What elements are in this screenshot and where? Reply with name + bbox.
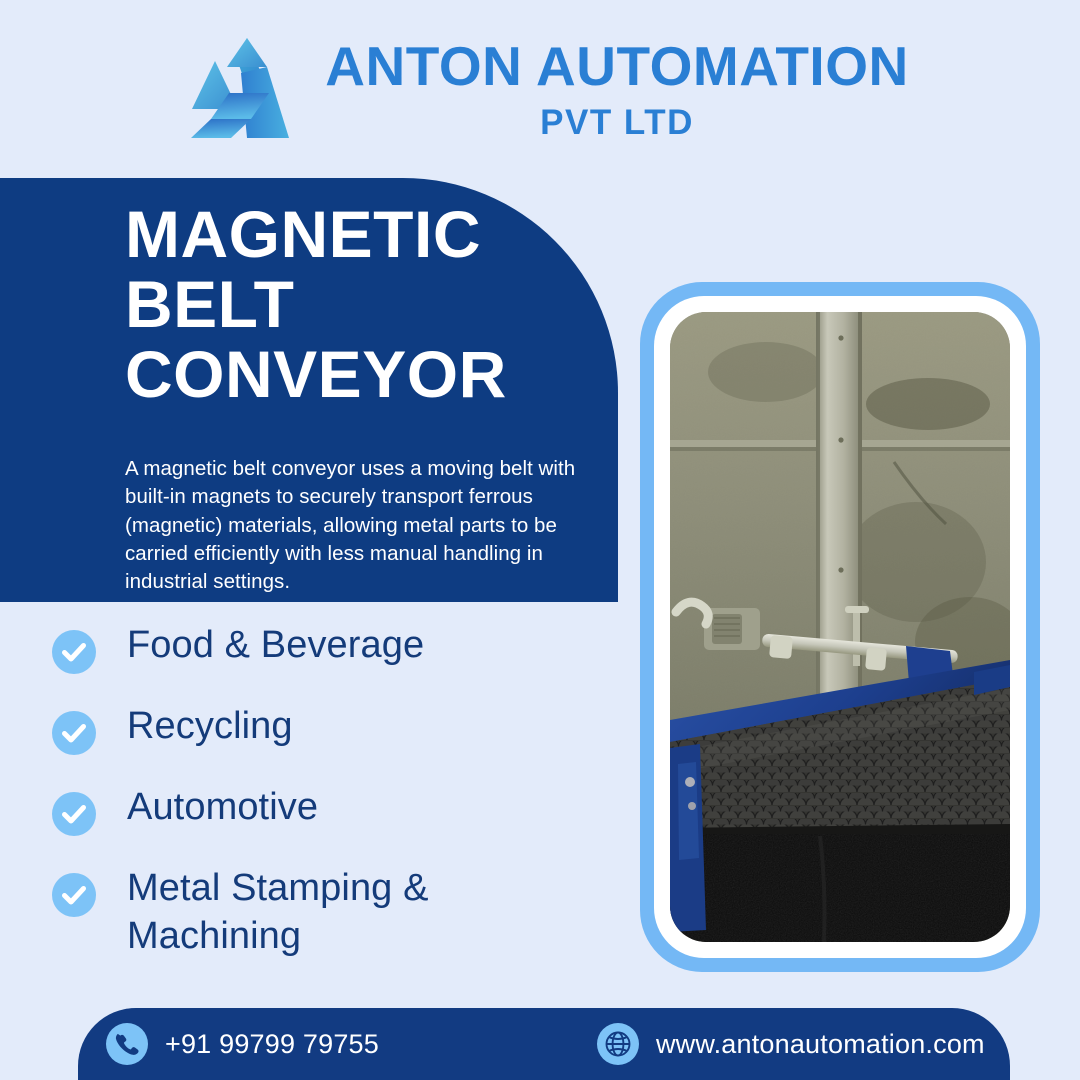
company-name: ANTON AUTOMATION: [325, 39, 908, 94]
check-circle-icon: [52, 873, 96, 917]
list-item: Food & Beverage: [52, 622, 612, 674]
list-item: Recycling: [52, 703, 612, 755]
feature-list: Food & Beverage Recycling Automotive Met…: [52, 622, 612, 990]
photo-inner-frame: [654, 296, 1026, 958]
list-item: Automotive: [52, 784, 612, 836]
check-circle-icon: [52, 630, 96, 674]
list-item-label: Metal Stamping & Machining: [127, 865, 612, 961]
phone-icon: [106, 1023, 148, 1065]
contact-bar: +91 99799 79755 www.antonautomation.com: [78, 1008, 1010, 1080]
website-url: www.antonautomation.com: [656, 1029, 985, 1060]
title-line-3: CONVEYOR: [125, 340, 595, 410]
company-suffix: PVT LTD: [540, 105, 694, 140]
list-item-label: Automotive: [127, 784, 318, 832]
logo-lockup: ANTON AUTOMATION PVT LTD: [181, 33, 908, 145]
title-line-1: MAGNETIC: [125, 200, 595, 270]
list-item-label: Food & Beverage: [127, 622, 424, 670]
hero-description: A magnetic belt conveyor uses a moving b…: [125, 455, 603, 596]
phone-number: +91 99799 79755: [165, 1029, 379, 1060]
list-item-label: Recycling: [127, 703, 293, 751]
title-line-2: BELT: [125, 270, 595, 340]
photo-card: [640, 282, 1040, 972]
check-circle-icon: [52, 792, 96, 836]
globe-icon: [597, 1023, 639, 1065]
brand-header: ANTON AUTOMATION PVT LTD: [0, 0, 1080, 178]
check-circle-icon: [52, 711, 96, 755]
contact-website[interactable]: www.antonautomation.com: [597, 1023, 985, 1065]
list-item: Metal Stamping & Machining: [52, 865, 612, 961]
anton-a-logo-icon: [181, 33, 299, 145]
contact-phone[interactable]: +91 99799 79755: [106, 1023, 379, 1065]
photo-viewport: [670, 312, 1010, 942]
page-title: MAGNETIC BELT CONVEYOR: [125, 200, 595, 410]
hero-panel: MAGNETIC BELT CONVEYOR A magnetic belt c…: [0, 178, 618, 602]
magnetic-belt-conveyor-photo: [670, 312, 1010, 942]
logo-wordmark: ANTON AUTOMATION PVT LTD: [325, 39, 908, 140]
